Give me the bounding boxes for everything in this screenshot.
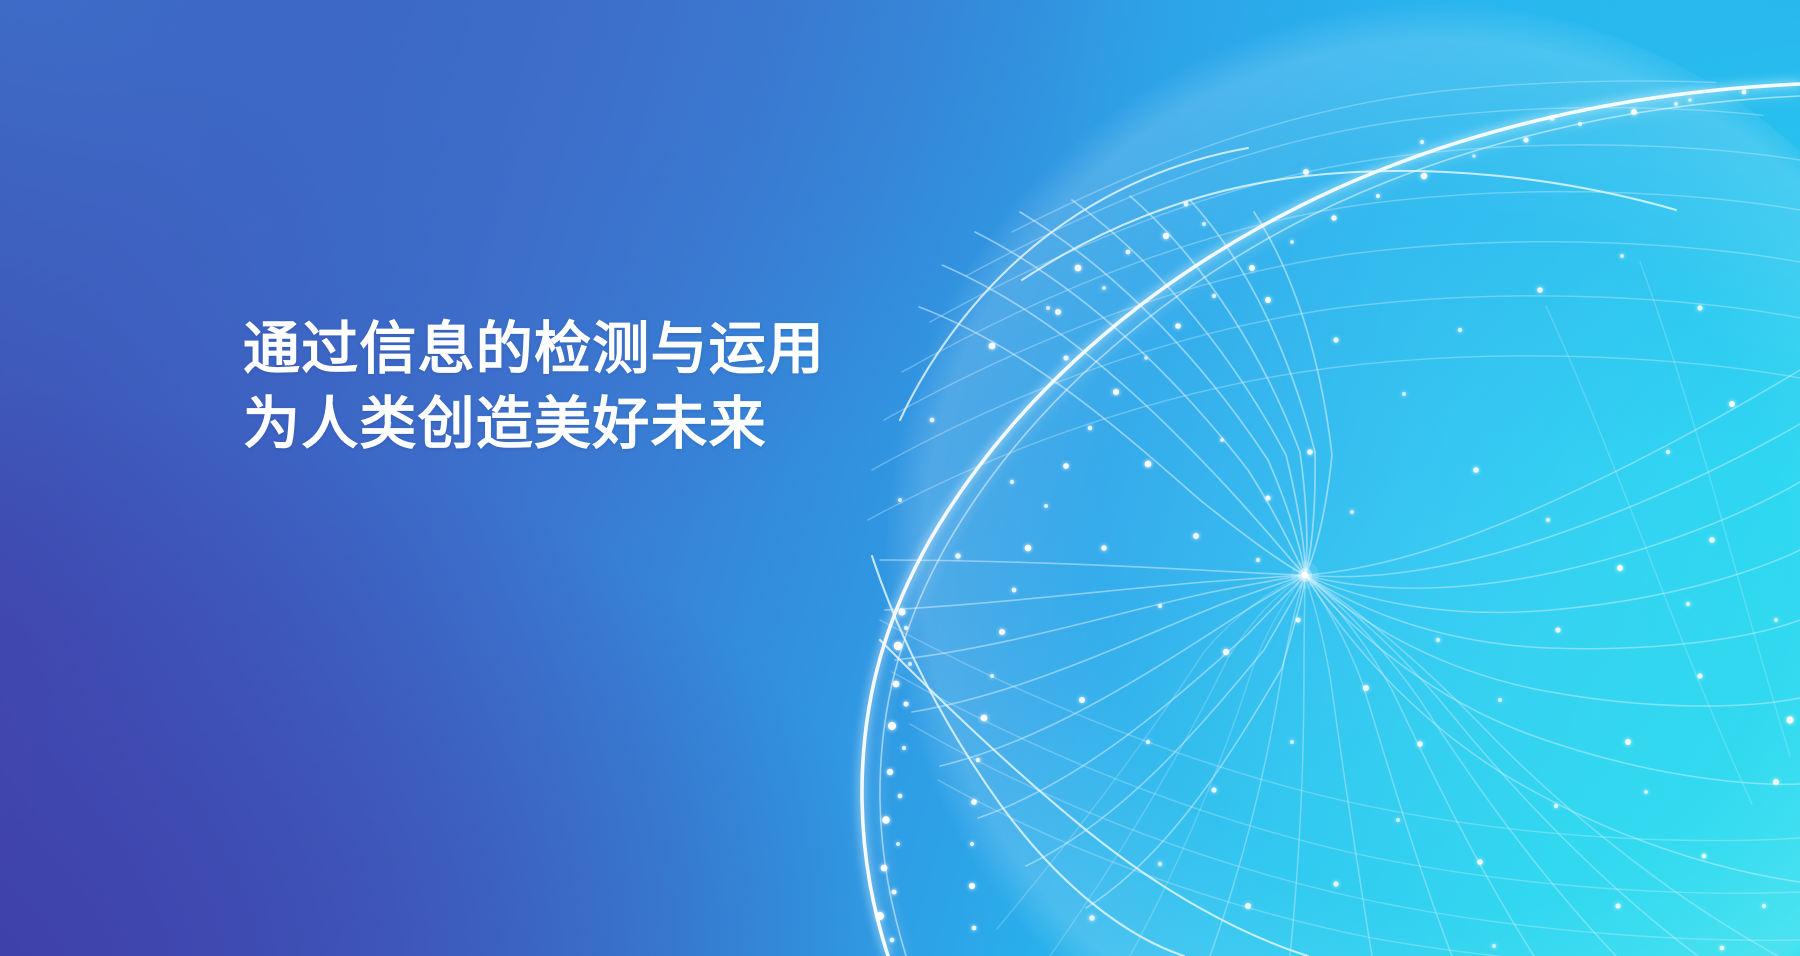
hero-headline: 通过信息的检测与运用 为人类创造美好未来 [243, 312, 1003, 462]
hero-banner: 通过信息的检测与运用 为人类创造美好未来 [0, 0, 1800, 956]
globe-sphere-glow [862, 2, 1800, 956]
wire-globe-graphic [0, 0, 1800, 956]
network-convergence-node [1291, 561, 1319, 589]
headline-line-2: 为人类创造美好未来 [243, 387, 1003, 462]
headline-line-1: 通过信息的检测与运用 [243, 312, 1003, 387]
